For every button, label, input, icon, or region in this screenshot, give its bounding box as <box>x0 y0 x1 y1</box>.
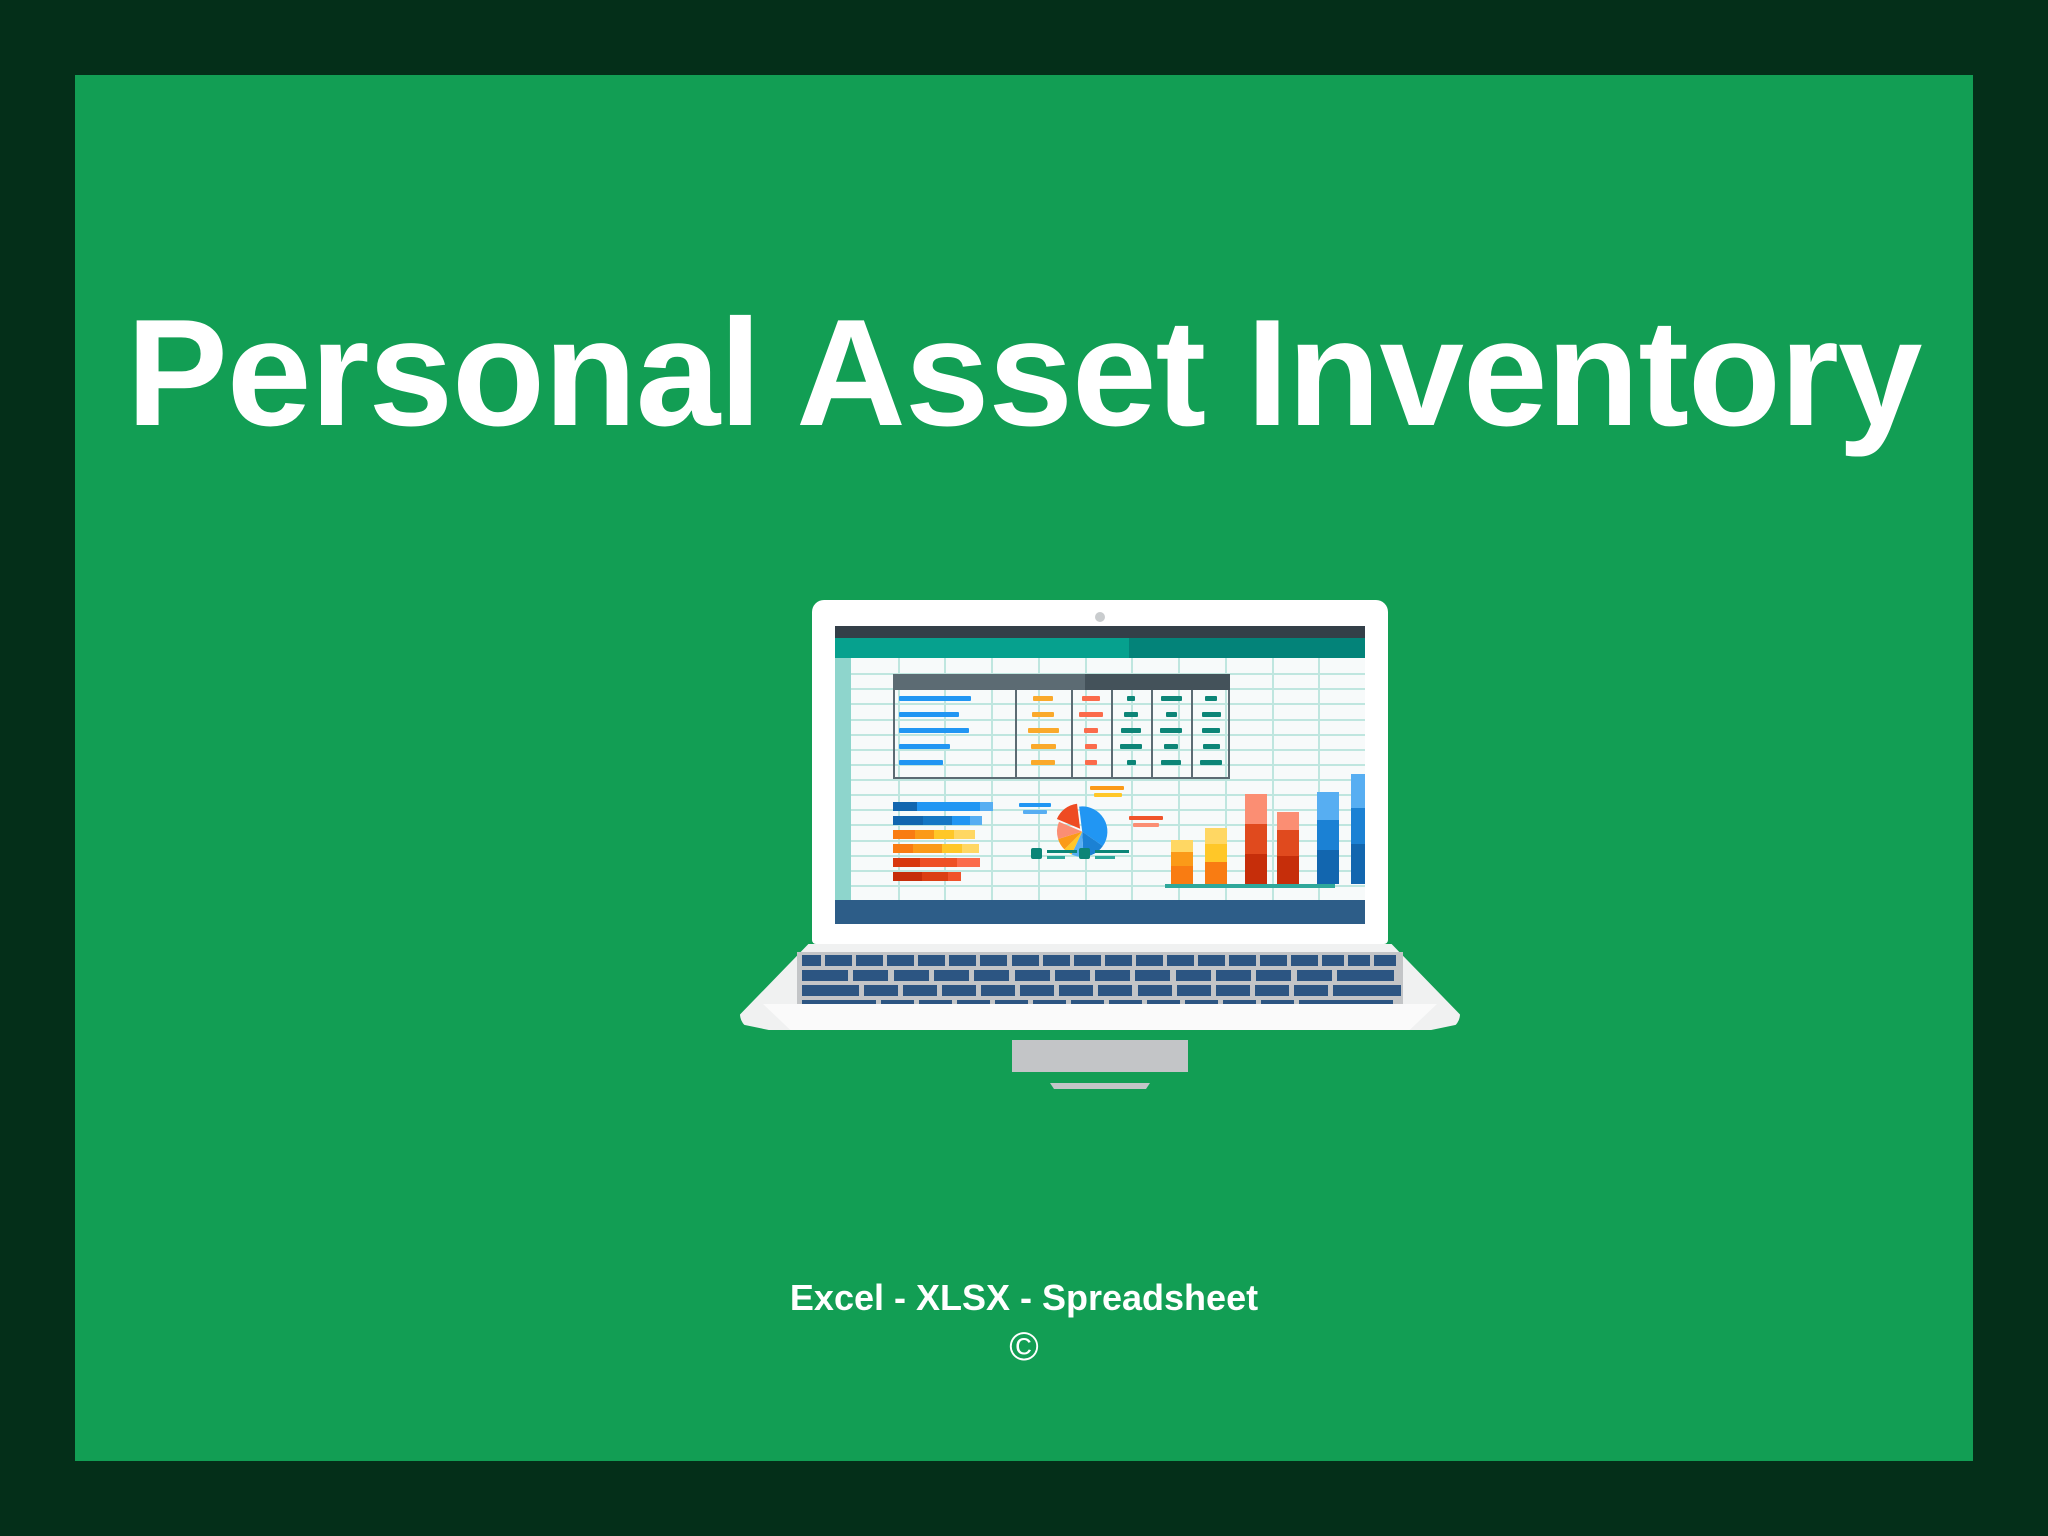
bar-row <box>893 830 975 839</box>
copyright-icon: © <box>75 1321 1973 1373</box>
keyboard-key <box>974 970 1009 981</box>
table-column-separator <box>1151 690 1153 777</box>
table-cell-bar <box>1202 712 1221 717</box>
table-cell-bar <box>1124 712 1138 717</box>
bar-segment <box>957 858 980 867</box>
bar-segment <box>1205 828 1227 844</box>
bar-row <box>893 858 980 867</box>
chart-axis-line <box>1165 884 1335 888</box>
bar-segment <box>923 816 952 825</box>
table-cell-bar <box>1079 712 1103 717</box>
table-column-separator <box>1015 690 1017 777</box>
keyboard-key <box>1260 955 1287 966</box>
keyboard-key <box>1256 970 1291 981</box>
table-cell-bar <box>1160 728 1182 733</box>
app-toolbar-right <box>1129 638 1365 658</box>
table-cell-bar <box>1121 728 1141 733</box>
table-header-right <box>1085 674 1230 690</box>
bar-segment <box>1317 820 1339 850</box>
keyboard-key <box>1229 955 1256 966</box>
table-cell-bar <box>1161 760 1181 765</box>
table-cell-bar <box>1084 728 1098 733</box>
bar-column <box>1351 774 1365 884</box>
app-status-bar <box>835 900 1365 924</box>
table-cell-bar <box>1127 696 1135 701</box>
table-column-separator <box>1111 690 1113 777</box>
keyboard-key <box>1333 985 1401 996</box>
table-cell-bar <box>1166 712 1177 717</box>
bar-row <box>893 816 982 825</box>
keyboard-key <box>949 955 976 966</box>
bar-segment <box>893 872 922 881</box>
bar-segment <box>1317 792 1339 820</box>
keyboard-key <box>1176 970 1211 981</box>
bar-segment <box>893 858 920 867</box>
legend-line-1a <box>1047 850 1077 853</box>
keyboard-key <box>1020 985 1054 996</box>
bar-segment <box>1245 854 1267 884</box>
keyboard-key <box>981 985 1015 996</box>
table-cell-bar <box>1085 744 1097 749</box>
bar-segment <box>1317 850 1339 884</box>
keyboard-key <box>1012 955 1039 966</box>
legend-swatch-1 <box>1031 848 1042 859</box>
vertical-bar-chart <box>1165 766 1335 888</box>
keyboard-key <box>864 985 898 996</box>
bar-column <box>1205 828 1227 884</box>
keyboard-key <box>802 985 859 996</box>
bar-column <box>1245 794 1267 884</box>
bar-segment <box>954 830 975 839</box>
keyboard-key <box>1216 970 1251 981</box>
table-cell-bar <box>899 728 969 733</box>
keyboard-key <box>1291 955 1318 966</box>
table-cell-bar <box>899 744 950 749</box>
bar-segment <box>1351 808 1365 844</box>
keyboard-key <box>1098 985 1132 996</box>
keyboard-key <box>1167 955 1194 966</box>
bar-segment <box>1171 852 1193 866</box>
row-header-strip <box>835 658 851 900</box>
file-format-label: Excel - XLSX - Spreadsheet <box>75 1275 1973 1321</box>
bar-segment <box>915 830 934 839</box>
laptop-illustration <box>740 600 1460 1080</box>
legend-line-2a <box>1095 850 1129 853</box>
keyboard-key <box>894 970 929 981</box>
bar-segment <box>952 816 970 825</box>
bar-row <box>893 844 979 853</box>
keyboard-key <box>1135 970 1170 981</box>
table-cell-bar <box>1200 760 1222 765</box>
bar-segment <box>893 816 923 825</box>
table-cell-bar <box>899 760 943 765</box>
legend-line-1b <box>1047 856 1065 859</box>
keyboard-key <box>1337 970 1394 981</box>
keyboard-key <box>1059 985 1093 996</box>
keyboard-key <box>1348 955 1370 966</box>
keyboard-key <box>802 955 821 966</box>
bar-column <box>1317 792 1339 884</box>
laptop-front-notch <box>1050 1083 1150 1089</box>
bar-segment <box>1277 812 1299 830</box>
legend-line-2b <box>1095 856 1115 859</box>
table-cell-bar <box>1127 760 1136 765</box>
table-cell-bar <box>1202 728 1220 733</box>
app-toolbar-left <box>835 638 1129 658</box>
data-table <box>893 674 1230 779</box>
keyboard-key <box>1374 955 1396 966</box>
keyboard-key <box>1255 985 1289 996</box>
footer: Excel - XLSX - Spreadsheet © <box>75 1275 1973 1373</box>
keyboard-key <box>1043 955 1070 966</box>
table-cell-bar <box>1032 712 1054 717</box>
keyboard-row <box>797 954 1403 967</box>
table-cell-bar <box>1031 744 1056 749</box>
keyboard-key <box>887 955 914 966</box>
table-column-separator <box>1071 690 1073 777</box>
pie-label-orange-1 <box>1090 786 1124 790</box>
table-cell-bar <box>1031 760 1055 765</box>
keyboard-key <box>942 985 976 996</box>
bar-segment <box>922 872 948 881</box>
bar-segment <box>1351 774 1365 808</box>
app-title-bar <box>835 626 1365 638</box>
laptop-base-lip <box>740 1004 1460 1030</box>
keyboard-key <box>1294 985 1328 996</box>
keyboard-key <box>1198 955 1225 966</box>
table-cell-bar <box>1085 760 1097 765</box>
bar-segment <box>917 802 953 811</box>
keyboard-key <box>1105 955 1132 966</box>
green-panel: Personal Asset Inventory <box>75 75 1973 1461</box>
bar-column <box>1277 812 1299 884</box>
bar-segment <box>893 802 917 811</box>
horizontal-bar-chart <box>893 802 1043 886</box>
keyboard-key <box>1138 985 1172 996</box>
bar-row <box>893 802 993 811</box>
table-cell-bar <box>1161 696 1182 701</box>
bar-segment <box>1171 840 1193 852</box>
keyboard-key <box>825 955 852 966</box>
keyboard-row <box>797 969 1403 982</box>
bar-segment <box>1171 866 1193 884</box>
keyboard-key <box>918 955 945 966</box>
bar-segment <box>1277 856 1299 884</box>
keyboard-key <box>853 970 888 981</box>
bar-segment <box>970 816 982 825</box>
bar-row <box>893 872 961 881</box>
pie-label-red-2 <box>1133 823 1159 827</box>
table-cell-bar <box>1120 744 1142 749</box>
bar-segment <box>953 802 980 811</box>
keyboard-key <box>802 970 848 981</box>
keyboard-key <box>856 955 883 966</box>
table-cell-bar <box>1028 728 1059 733</box>
table-cell-bar <box>1164 744 1178 749</box>
keyboard-key <box>1095 970 1130 981</box>
page-title: Personal Asset Inventory <box>75 297 1973 449</box>
keyboard-key <box>1322 955 1344 966</box>
slide-canvas: Personal Asset Inventory <box>0 0 2048 1536</box>
keyboard-key <box>1015 970 1050 981</box>
bar-segment <box>980 802 993 811</box>
bar-segment <box>962 844 979 853</box>
bar-segment <box>913 844 942 853</box>
bar-segment <box>1351 844 1365 884</box>
bar-segment <box>893 830 915 839</box>
laptop-trackpad <box>1012 1040 1188 1072</box>
bar-segment <box>1205 844 1227 862</box>
table-cell-bar <box>1203 744 1220 749</box>
bar-segment <box>920 858 957 867</box>
bar-segment <box>948 872 961 881</box>
laptop-lid <box>812 600 1388 944</box>
pie-label-blue-2 <box>1023 810 1047 814</box>
keyboard-key <box>1074 955 1101 966</box>
table-cell-bar <box>899 712 959 717</box>
keyboard-key <box>934 970 969 981</box>
bar-segment <box>1245 794 1267 824</box>
keyboard-row <box>797 984 1403 997</box>
keyboard-key <box>1055 970 1090 981</box>
table-cell-bar <box>899 696 971 701</box>
table-cell-bar <box>1082 696 1100 701</box>
table-column-separator <box>1191 690 1193 777</box>
webcam-icon <box>1095 612 1105 622</box>
pie-label-orange-2 <box>1094 793 1122 797</box>
laptop-screen <box>835 626 1365 924</box>
bar-segment <box>1245 824 1267 854</box>
bar-segment <box>934 830 954 839</box>
legend-swatch-2 <box>1079 848 1090 859</box>
bar-segment <box>1277 830 1299 856</box>
keyboard-key <box>1177 985 1211 996</box>
table-cell-bar <box>1033 696 1053 701</box>
keyboard-key <box>903 985 937 996</box>
bar-segment <box>942 844 962 853</box>
keyboard-key <box>1216 985 1250 996</box>
table-cell-bar <box>1205 696 1217 701</box>
keyboard-key <box>980 955 1007 966</box>
bar-segment <box>1205 862 1227 884</box>
keyboard-key <box>1136 955 1163 966</box>
keyboard-key <box>1297 970 1332 981</box>
bar-segment <box>893 844 913 853</box>
bar-column <box>1171 840 1193 884</box>
table-header-left <box>893 674 1085 690</box>
pie-label-blue-1 <box>1019 803 1051 807</box>
pie-label-red-1 <box>1129 816 1163 820</box>
